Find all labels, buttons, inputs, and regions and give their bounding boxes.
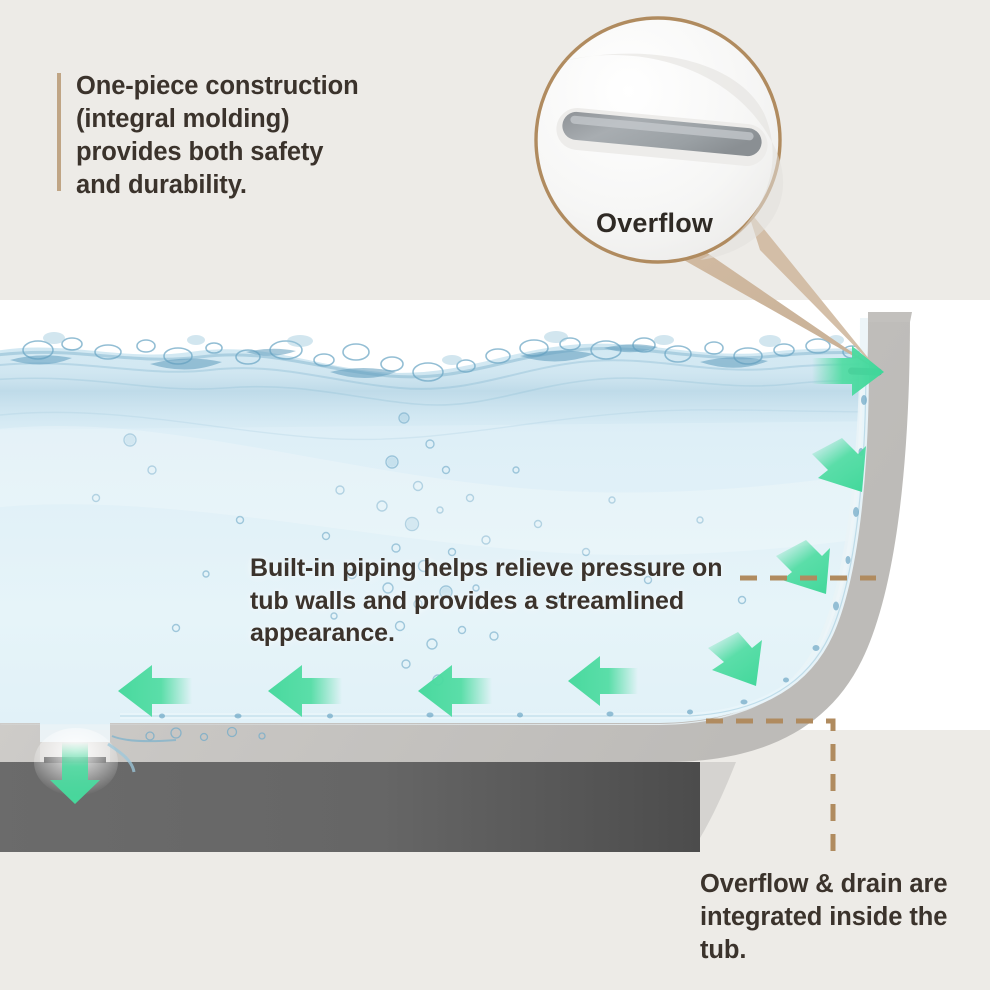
magnifier-label-overflow: Overflow	[596, 208, 713, 239]
callout-one-piece-construction: One-piece construction (integral molding…	[76, 70, 406, 203]
callout-overflow-and-drain: Overflow & drain are integrated inside t…	[700, 868, 962, 967]
callout-built-in-piping: Built-in piping helps relieve pressure o…	[250, 552, 750, 650]
infographic-canvas: One-piece construction (integral molding…	[0, 0, 990, 990]
callout-accent-bar	[57, 73, 61, 191]
